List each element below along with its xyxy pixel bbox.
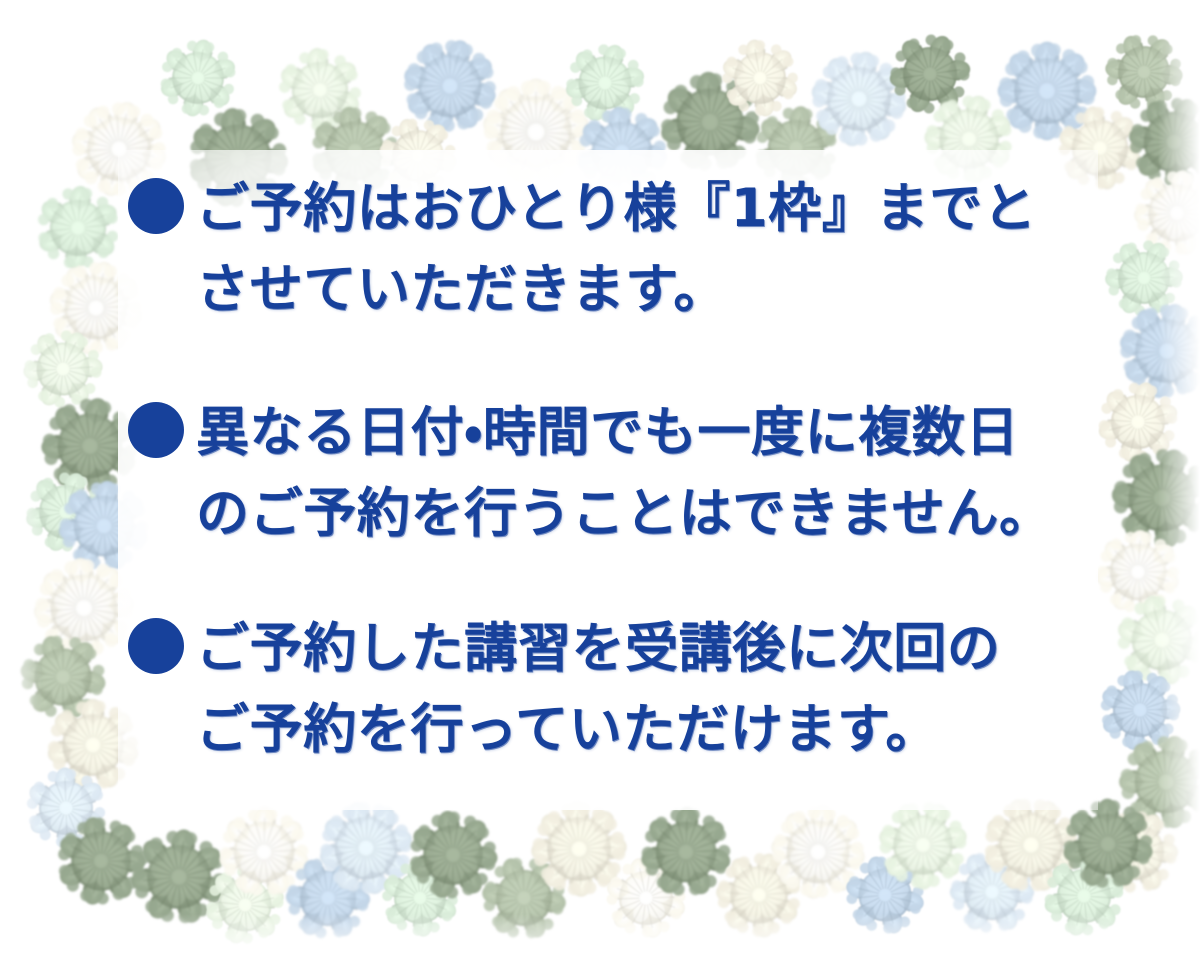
rule-text: ご予約した講習を受講後に次回の ご予約を行っていただけます。	[196, 608, 1093, 770]
rule-item: 異なる日付・時間でも一度に複数日 のご予約を行うことはできません。	[128, 392, 1093, 554]
bullet-point-icon	[128, 618, 184, 674]
bullet-point-icon	[128, 178, 184, 234]
rule-text: ご予約はおひとり様『1枠』までと させていただきます。	[196, 168, 1093, 330]
rule-item: ご予約はおひとり様『1枠』までと させていただきます。	[128, 168, 1093, 330]
rule-item: ご予約した講習を受講後に次回の ご予約を行っていただけます。	[128, 608, 1093, 770]
rule-text: 異なる日付・時間でも一度に複数日 のご予約を行うことはできません。	[196, 392, 1093, 554]
notice-page: ご予約はおひとり様『1枠』までと させていただきます。 異なる日付・時間でも一度…	[0, 0, 1200, 960]
bullet-point-icon	[128, 402, 184, 458]
notice-content: ご予約はおひとり様『1枠』までと させていただきます。 異なる日付・時間でも一度…	[0, 0, 1200, 960]
